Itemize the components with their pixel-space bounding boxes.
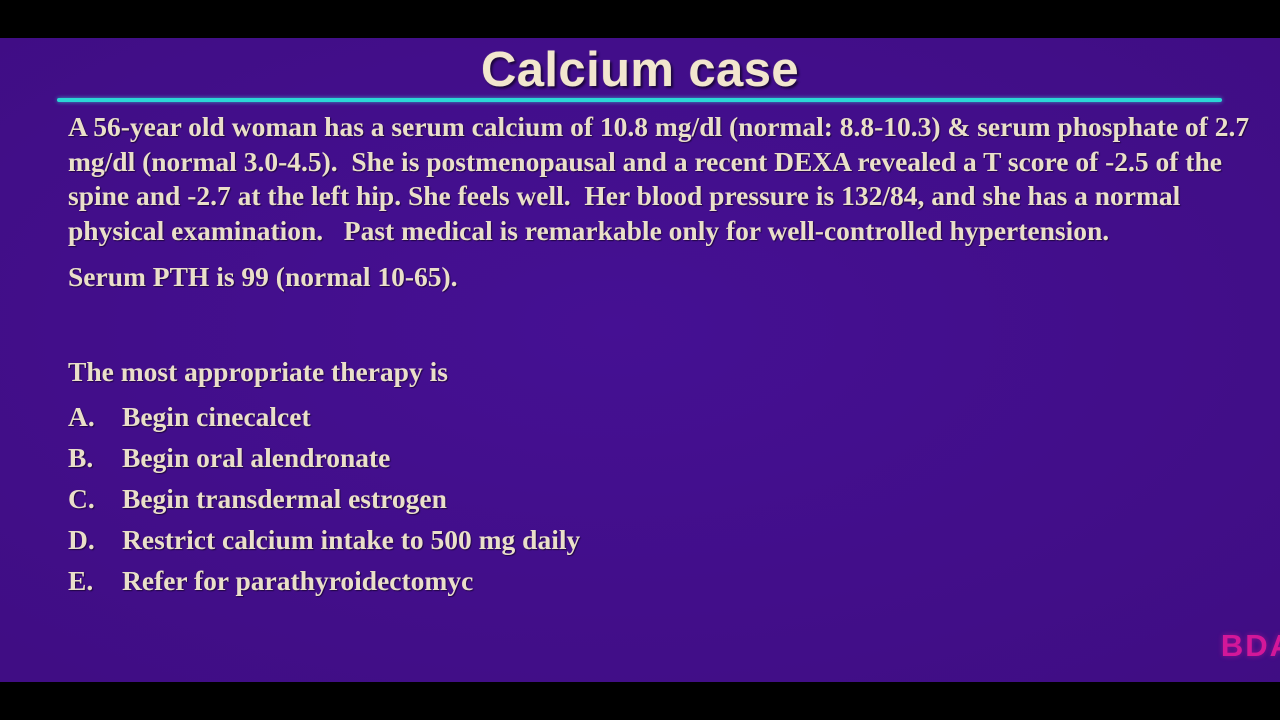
answer-option-d[interactable]: D. Restrict calcium intake to 500 mg dai… (68, 519, 1253, 560)
option-letter-e: E. (68, 560, 122, 601)
video-slide-frame: Calcium case A 56-year old woman has a s… (0, 0, 1280, 720)
option-text-d: Restrict calcium intake to 500 mg daily (122, 519, 580, 560)
option-letter-d: D. (68, 519, 122, 560)
option-text-b: Begin oral alendronate (122, 437, 390, 478)
letterbox-bar-bottom (0, 682, 1280, 720)
clinical-vignette-paragraph: A 56-year old woman has a serum calcium … (68, 110, 1253, 248)
lab-value-paragraph: Serum PTH is 99 (normal 10-65). (68, 260, 1253, 295)
question-stem: The most appropriate therapy is (68, 355, 1253, 390)
answer-option-e[interactable]: E. Refer for parathyroidectomyc (68, 560, 1253, 601)
slide-canvas: Calcium case A 56-year old woman has a s… (0, 38, 1280, 682)
option-letter-b: B. (68, 437, 122, 478)
option-text-a: Begin cinecalcet (122, 396, 311, 437)
answer-options-list: A. Begin cinecalcet B. Begin oral alendr… (68, 396, 1253, 601)
slide-body: A 56-year old woman has a serum calcium … (68, 110, 1253, 601)
option-text-e: Refer for parathyroidectomyc (122, 560, 473, 601)
vertical-spacer (68, 295, 1253, 355)
option-letter-c: C. (68, 478, 122, 519)
answer-option-a[interactable]: A. Begin cinecalcet (68, 396, 1253, 437)
letterbox-bar-top (0, 0, 1280, 38)
option-letter-a: A. (68, 396, 122, 437)
answer-option-c[interactable]: C. Begin transdermal estrogen (68, 478, 1253, 519)
answer-option-b[interactable]: B. Begin oral alendronate (68, 437, 1253, 478)
title-underline-rule (57, 98, 1222, 102)
page-title: Calcium case (0, 42, 1280, 98)
option-text-c: Begin transdermal estrogen (122, 478, 447, 519)
channel-watermark: BDA (1221, 628, 1280, 664)
